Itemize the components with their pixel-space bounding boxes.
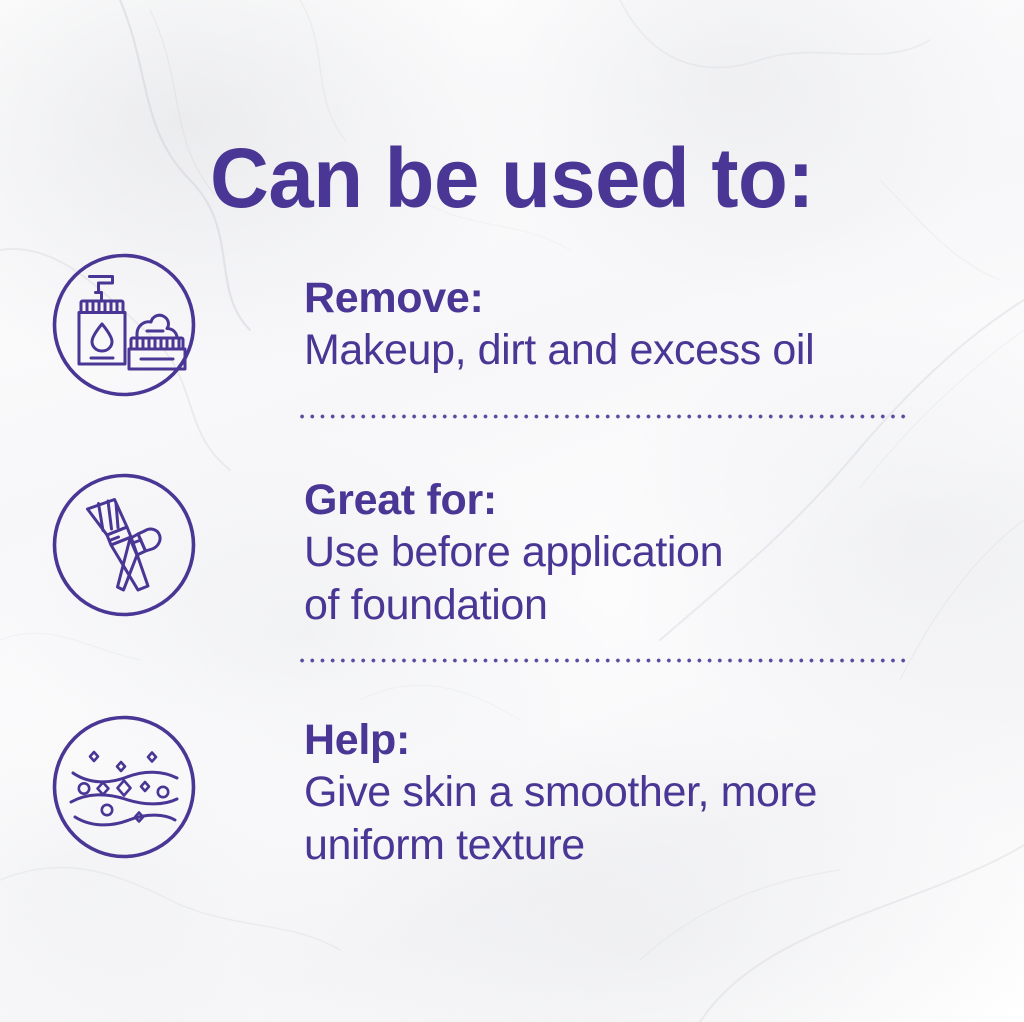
text-cell: Remove: Makeup, dirt and excess oil — [246, 252, 1024, 377]
item-description-line: Makeup, dirt and excess oil — [304, 324, 1024, 377]
item-description-line: uniform texture — [304, 819, 1024, 872]
text-cell: Great for: Use before application of fou… — [246, 472, 1024, 632]
text-cell: Help: Give skin a smoother, more uniform… — [246, 714, 1024, 872]
icon-cell — [0, 714, 246, 860]
benefit-row: Help: Give skin a smoother, more uniform… — [0, 714, 1024, 872]
item-description: Use before application of foundation — [304, 526, 1024, 632]
makeup-brushes-icon — [51, 472, 197, 618]
item-title: Great for: — [304, 474, 1024, 526]
icon-cell — [0, 472, 246, 618]
item-description-line: Use before application — [304, 526, 1024, 579]
cleanser-bottle-and-cream-jar-icon — [51, 252, 197, 398]
infographic-panel: Can be used to: — [0, 0, 1024, 1022]
icon-cell — [0, 252, 246, 398]
item-description: Give skin a smoother, more uniform textu… — [304, 766, 1024, 872]
item-description: Makeup, dirt and excess oil — [304, 324, 1024, 377]
dotted-divider — [297, 658, 910, 663]
item-description-line: Give skin a smoother, more — [304, 766, 1024, 819]
item-title: Help: — [304, 714, 1024, 766]
page-title: Can be used to: — [15, 132, 1008, 224]
dotted-divider — [297, 414, 910, 419]
benefit-row: Remove: Makeup, dirt and excess oil — [0, 252, 1024, 398]
skin-texture-icon — [51, 714, 197, 860]
item-description-line: of foundation — [304, 579, 1024, 632]
item-title: Remove: — [304, 272, 1024, 324]
benefit-row: Great for: Use before application of fou… — [0, 472, 1024, 632]
